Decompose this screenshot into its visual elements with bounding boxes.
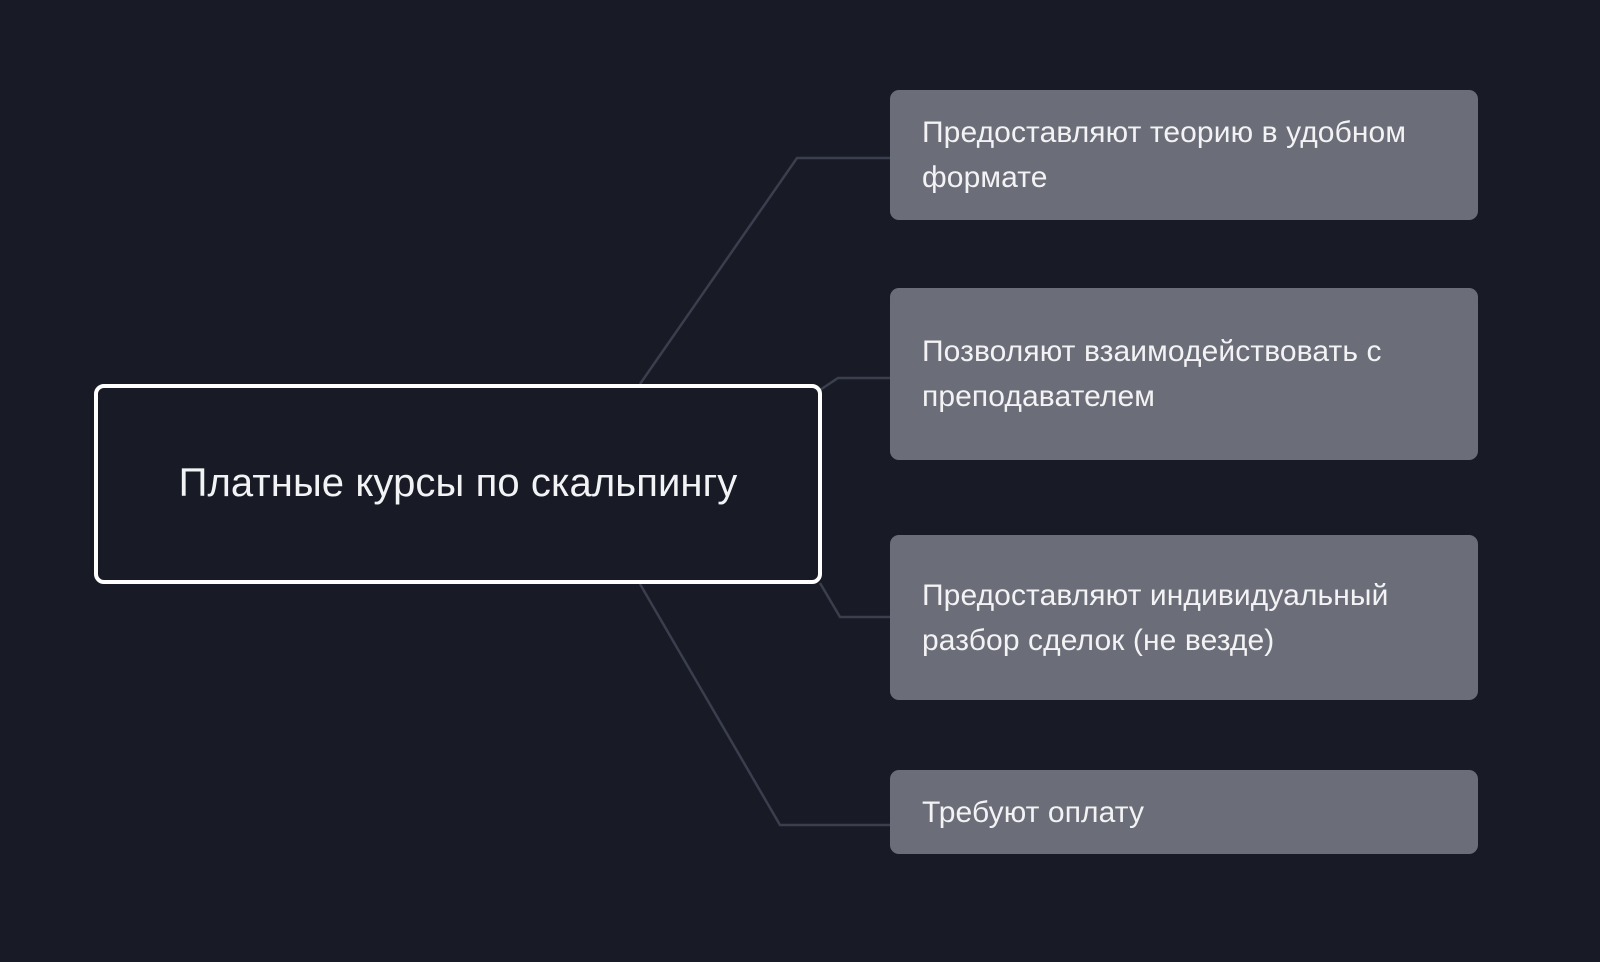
branch-node-3-label: Предоставляют индивидуальный разбор сдел… [922,573,1446,663]
root-node[interactable]: Платные курсы по скальпингу [94,384,822,584]
branch-node-1[interactable]: Предоставляют теорию в удобном формате [890,90,1478,220]
mindmap-canvas: Платные курсы по скальпингу Предоставляю… [0,0,1600,962]
connector-to-branch-3 [820,583,890,617]
branch-node-4-label: Требуют оплату [922,790,1144,835]
connector-to-branch-1 [640,158,890,384]
root-node-label: Платные курсы по скальпингу [151,456,766,511]
connector-to-branch-4 [640,584,890,825]
branch-node-4[interactable]: Требуют оплату [890,770,1478,854]
connector-to-branch-2 [820,378,890,390]
branch-node-1-label: Предоставляют теорию в удобном формате [922,110,1446,200]
branch-node-2-label: Позволяют взаимодействовать с преподават… [922,329,1446,419]
branch-node-3[interactable]: Предоставляют индивидуальный разбор сдел… [890,535,1478,700]
branch-node-2[interactable]: Позволяют взаимодействовать с преподават… [890,288,1478,460]
